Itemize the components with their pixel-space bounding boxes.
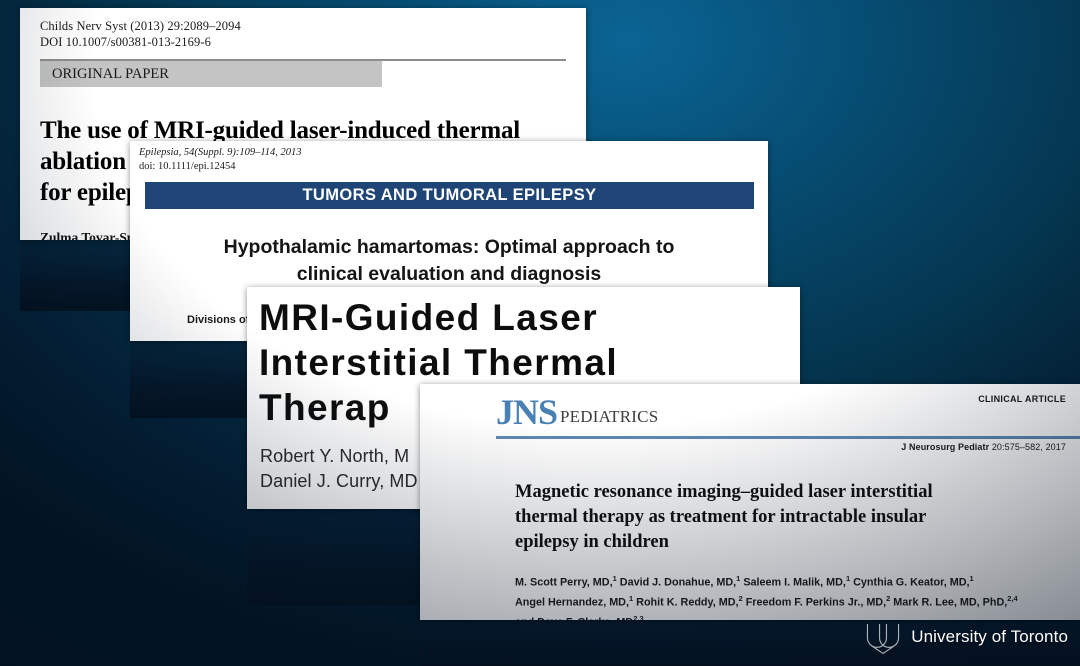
journal-reference-name: J Neurosurg Pediatr: [901, 442, 989, 452]
jns-subtitle: PEDIATRICS: [560, 407, 658, 427]
paper-author-line: and Dave F. Clarke, MD2,3: [515, 611, 1050, 620]
uoft-crest-icon: [864, 620, 902, 654]
paper-author-line: M. Scott Perry, MD,1 David J. Donahue, M…: [515, 571, 1050, 591]
paper-title-line-2: clinical evaluation and diagnosis: [160, 261, 738, 288]
paper-title: Magnetic resonance imaging–guided laser …: [420, 452, 1080, 555]
uoft-wordmark: University of Toronto: [911, 627, 1068, 647]
paper-title-line-2: Interstitial Thermal: [259, 340, 800, 385]
journal-doi-line: DOI 10.1007/s00381-013-2169-6: [40, 34, 566, 50]
section-banner: TUMORS AND TUMORAL EPILEPSY: [145, 182, 754, 209]
paper-title-line-3: epilepsy in children: [515, 530, 1040, 555]
journal-reference-volume: 20:575–582, 2017: [989, 442, 1066, 452]
journal-header: Epilepsia, 54(Suppl. 9):109–114, 2013 do…: [130, 141, 768, 173]
journal-citation-line-1: Childs Nerv Syst (2013) 29:2089–2094: [40, 18, 566, 34]
jns-logo: JNS: [496, 391, 557, 433]
journal-masthead: JNS PEDIATRICS CLINICAL ARTICLE: [496, 390, 1080, 436]
university-branding: University of Toronto: [864, 620, 1068, 654]
presentation-slide: Childs Nerv Syst (2013) 29:2089–2094 DOI…: [0, 0, 1080, 666]
paper-title: Hypothalamic hamartomas: Optimal approac…: [130, 234, 768, 288]
document-jns-pediatrics[interactable]: JNS PEDIATRICS CLINICAL ARTICLE J Neuros…: [420, 384, 1080, 620]
document-reflection-jns-pediatrics: JNS PEDIATRICS Magnetic resonance imagin…: [420, 621, 1080, 666]
journal-doi-line: doi: 10.1111/epi.12454: [139, 160, 768, 174]
article-type-label: CLINICAL ARTICLE: [978, 394, 1066, 404]
paper-title-line-1: Hypothalamic hamartomas: Optimal approac…: [160, 234, 738, 261]
paper-title-line-1: Magnetic resonance imaging–guided laser …: [515, 480, 1040, 505]
paper-title-line-1: MRI-Guided Laser: [259, 295, 800, 340]
journal-citation-line-1: Epilepsia, 54(Suppl. 9):109–114, 2013: [139, 146, 768, 160]
journal-reference: J Neurosurg Pediatr 20:575–582, 2017: [420, 439, 1080, 452]
article-type-band: ORIGINAL PAPER: [40, 61, 382, 87]
paper-authors: M. Scott Perry, MD,1 David J. Donahue, M…: [420, 555, 1080, 621]
paper-title-line-2: thermal therapy as treatment for intract…: [515, 505, 1040, 530]
paper-author-line: Angel Hernandez, MD,1 Rohit K. Reddy, MD…: [515, 591, 1050, 611]
